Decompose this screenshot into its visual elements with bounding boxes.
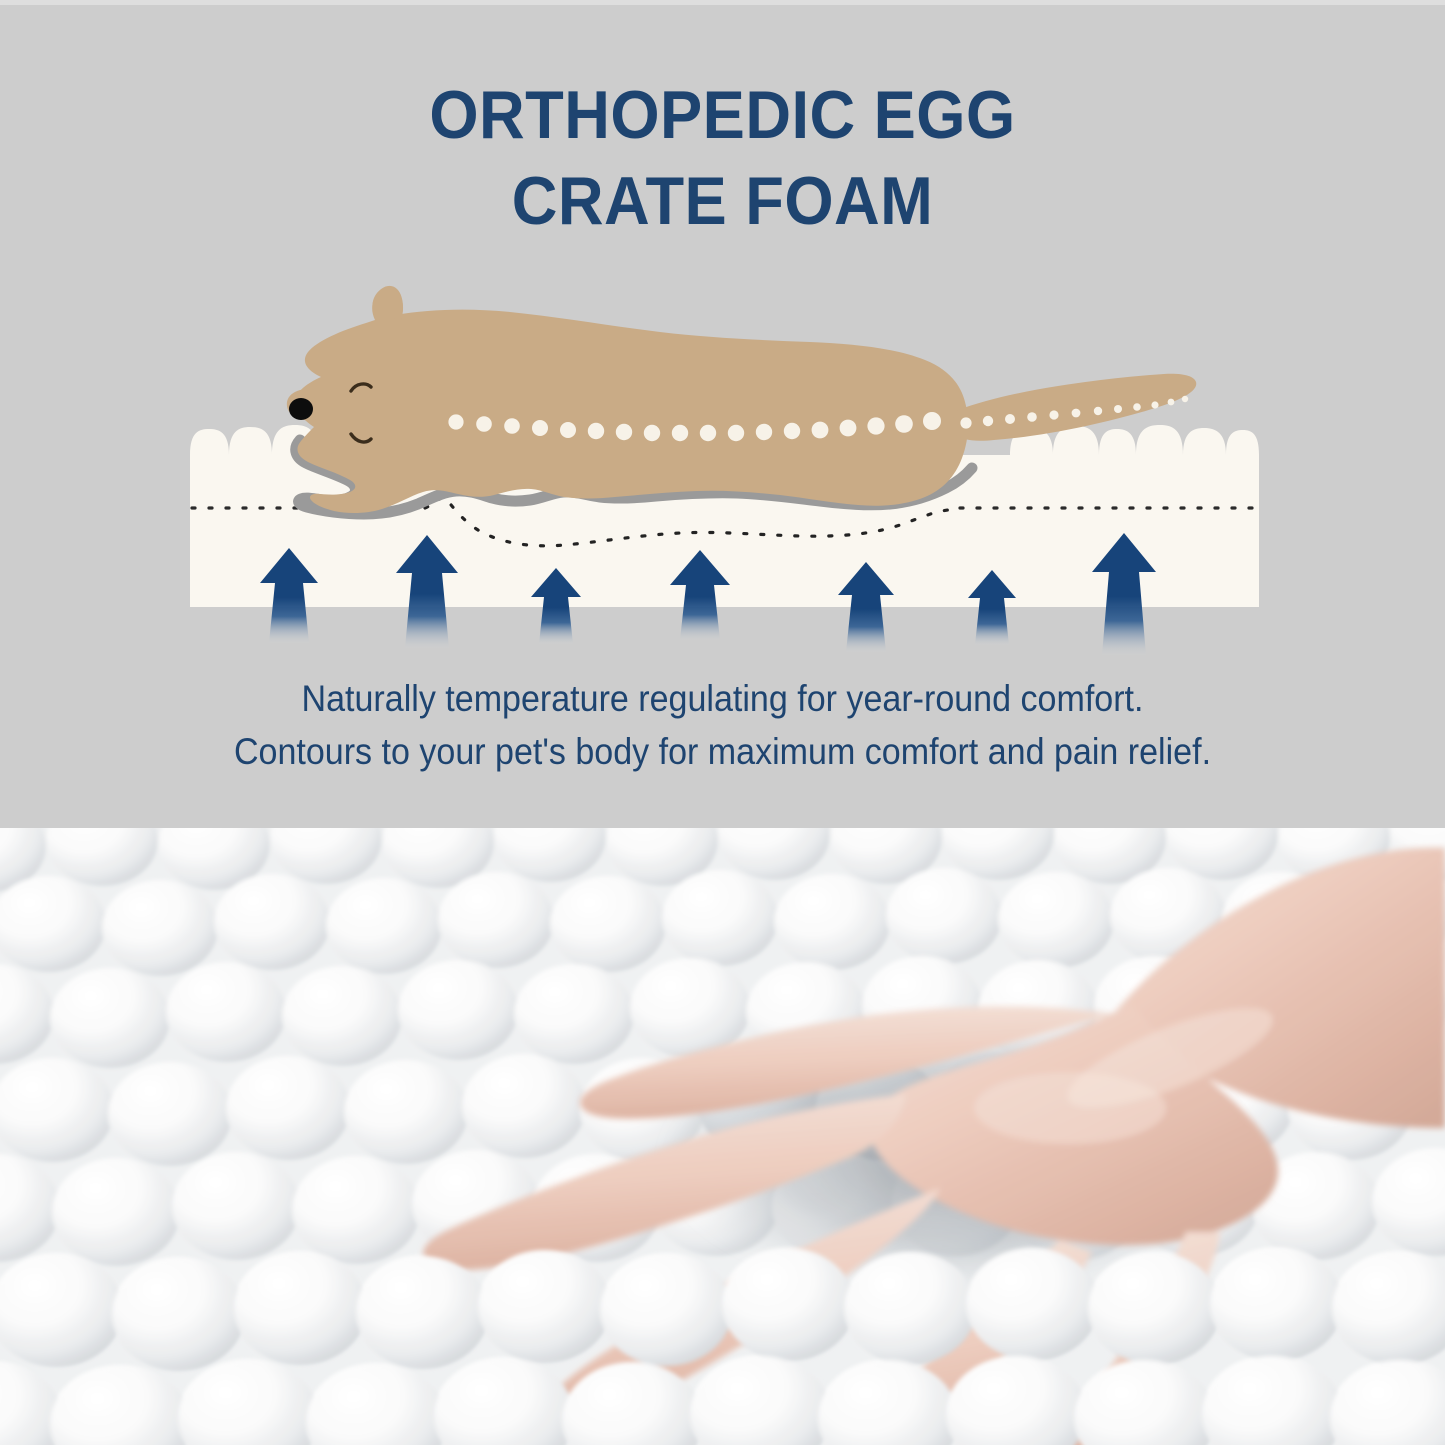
infographic-panel: ORTHOPEDIC EGG CRATE FOAM	[0, 0, 1445, 828]
caption-line-1: Naturally temperature regulating for yea…	[58, 672, 1387, 725]
egg-crate-foam-photo	[0, 828, 1445, 1445]
dog-body	[295, 286, 968, 513]
feature-captions: Naturally temperature regulating for yea…	[58, 672, 1387, 778]
dog-nose	[289, 398, 313, 420]
product-photo	[0, 828, 1445, 1445]
caption-line-2: Contours to your pet's body for maximum …	[58, 725, 1387, 778]
product-infographic-page: ORTHOPEDIC EGG CRATE FOAM	[0, 0, 1445, 1445]
